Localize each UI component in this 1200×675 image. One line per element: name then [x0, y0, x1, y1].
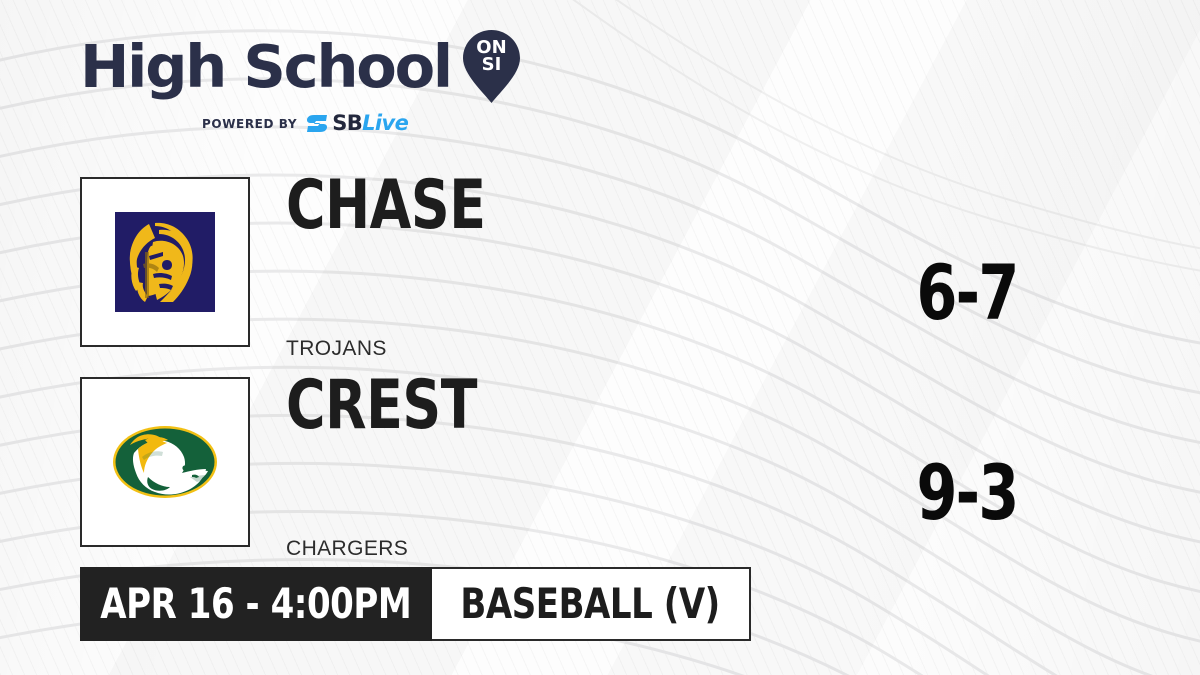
team-logo-container-1[interactable] [80, 177, 250, 347]
team-name-1: CHASE [286, 172, 486, 240]
team-mascot-2: CHARGERS [286, 537, 408, 561]
game-sport-text: BASEBALL (V) [461, 583, 720, 625]
matchup-graphic: High School ON SI POWERED BY SBLive [0, 0, 1200, 675]
wordmark-text: High School [80, 37, 451, 96]
sblive-sb-text: SB [332, 111, 362, 135]
pin-label-si: SI [463, 56, 520, 73]
game-info-banner: APR 16 - 4:00PM BASEBALL (V) [80, 567, 751, 641]
brand-header: High School ON SI POWERED BY SBLive [80, 30, 600, 134]
team-logo-container-2[interactable] [80, 377, 250, 547]
game-datetime-text: APR 16 - 4:00PM [101, 583, 412, 625]
team-name-2: CREST [286, 372, 477, 440]
team-record-1: 6-7 [881, 255, 1053, 331]
crest-chargers-logo [112, 425, 218, 499]
game-sport: BASEBALL (V) [432, 567, 751, 641]
sblive-wordmark: SBLive [332, 113, 408, 134]
team-mascot-1: TROJANS [286, 337, 387, 361]
team-record-2: 9-3 [881, 455, 1053, 531]
location-pin-icon: ON SI [463, 30, 520, 103]
powered-by-label: POWERED BY [202, 117, 297, 131]
high-school-on-si-logo[interactable]: High School ON SI [80, 30, 600, 103]
sblive-logo: SBLive [306, 113, 408, 134]
game-datetime: APR 16 - 4:00PM [80, 567, 432, 641]
sblive-s-mark-icon [306, 114, 328, 133]
powered-by-sblive[interactable]: POWERED BY SBLive [202, 113, 600, 134]
chase-trojans-logo [115, 212, 215, 312]
sblive-live-text: Live [362, 111, 408, 135]
